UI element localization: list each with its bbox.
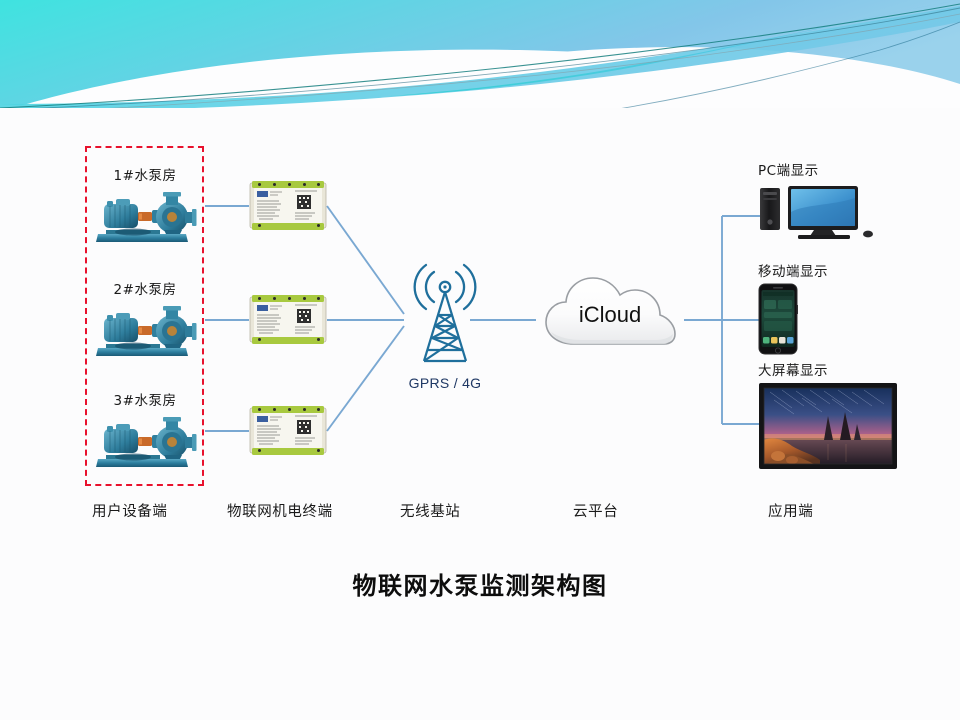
tier-label-application: 应用端 bbox=[768, 500, 813, 521]
iot-terminal-icon bbox=[249, 293, 327, 346]
cloud-platform-label: iCloud bbox=[536, 302, 684, 328]
cell-tower-icon bbox=[394, 258, 496, 373]
pump-station-1-label: 1#水泵房 bbox=[85, 164, 205, 184]
tier-label-row: 用户设备端 物联网机电终端 无线基站 云平台 应用端 bbox=[0, 500, 960, 530]
water-pump-icon bbox=[90, 186, 200, 248]
smartphone-icon bbox=[758, 283, 798, 355]
endpoint-mobile[interactable]: 移动端显示 bbox=[758, 260, 938, 360]
pump-station-2[interactable]: 2#水泵房 bbox=[85, 278, 205, 362]
endpoint-pc-label: PC端显示 bbox=[758, 159, 938, 179]
iot-terminal-2[interactable] bbox=[249, 293, 327, 346]
endpoint-pc[interactable]: PC端显示 bbox=[758, 159, 938, 247]
iot-terminal-icon bbox=[249, 179, 327, 232]
iot-terminal-1[interactable] bbox=[249, 179, 327, 232]
endpoint-bigscreen[interactable]: 大屏幕显示 bbox=[758, 359, 938, 475]
water-pump-icon bbox=[90, 411, 200, 473]
iot-terminal-3[interactable] bbox=[249, 404, 327, 457]
pump-station-3-label: 3#水泵房 bbox=[85, 389, 205, 409]
endpoint-bigscreen-label: 大屏幕显示 bbox=[758, 359, 938, 379]
cloud-platform[interactable]: iCloud bbox=[536, 268, 684, 360]
tier-label-iot-terminal: 物联网机电终端 bbox=[227, 500, 333, 521]
decorative-wave-header bbox=[0, 0, 960, 112]
tier-label-cloud-platform: 云平台 bbox=[573, 500, 618, 521]
endpoint-mobile-label: 移动端显示 bbox=[758, 260, 938, 280]
tier-label-base-station: 无线基站 bbox=[400, 500, 460, 521]
water-pump-icon bbox=[90, 300, 200, 362]
desktop-computer-icon bbox=[758, 182, 876, 242]
architecture-diagram: 1#水泵房 bbox=[0, 108, 960, 720]
slide-canvas: 1#水泵房 bbox=[0, 108, 960, 720]
large-screen-display-icon bbox=[758, 382, 898, 470]
slide-root: 1#水泵房 bbox=[0, 0, 960, 720]
base-station[interactable]: GPRS / 4G bbox=[385, 258, 505, 391]
pump-station-1[interactable]: 1#水泵房 bbox=[85, 164, 205, 248]
tier-label-user-equipment: 用户设备端 bbox=[92, 500, 168, 521]
iot-terminal-icon bbox=[249, 404, 327, 457]
pump-station-2-label: 2#水泵房 bbox=[85, 278, 205, 298]
pump-station-3[interactable]: 3#水泵房 bbox=[85, 389, 205, 473]
base-station-label: GPRS / 4G bbox=[385, 375, 505, 391]
diagram-caption: 物联网水泵监测架构图 bbox=[0, 566, 960, 601]
